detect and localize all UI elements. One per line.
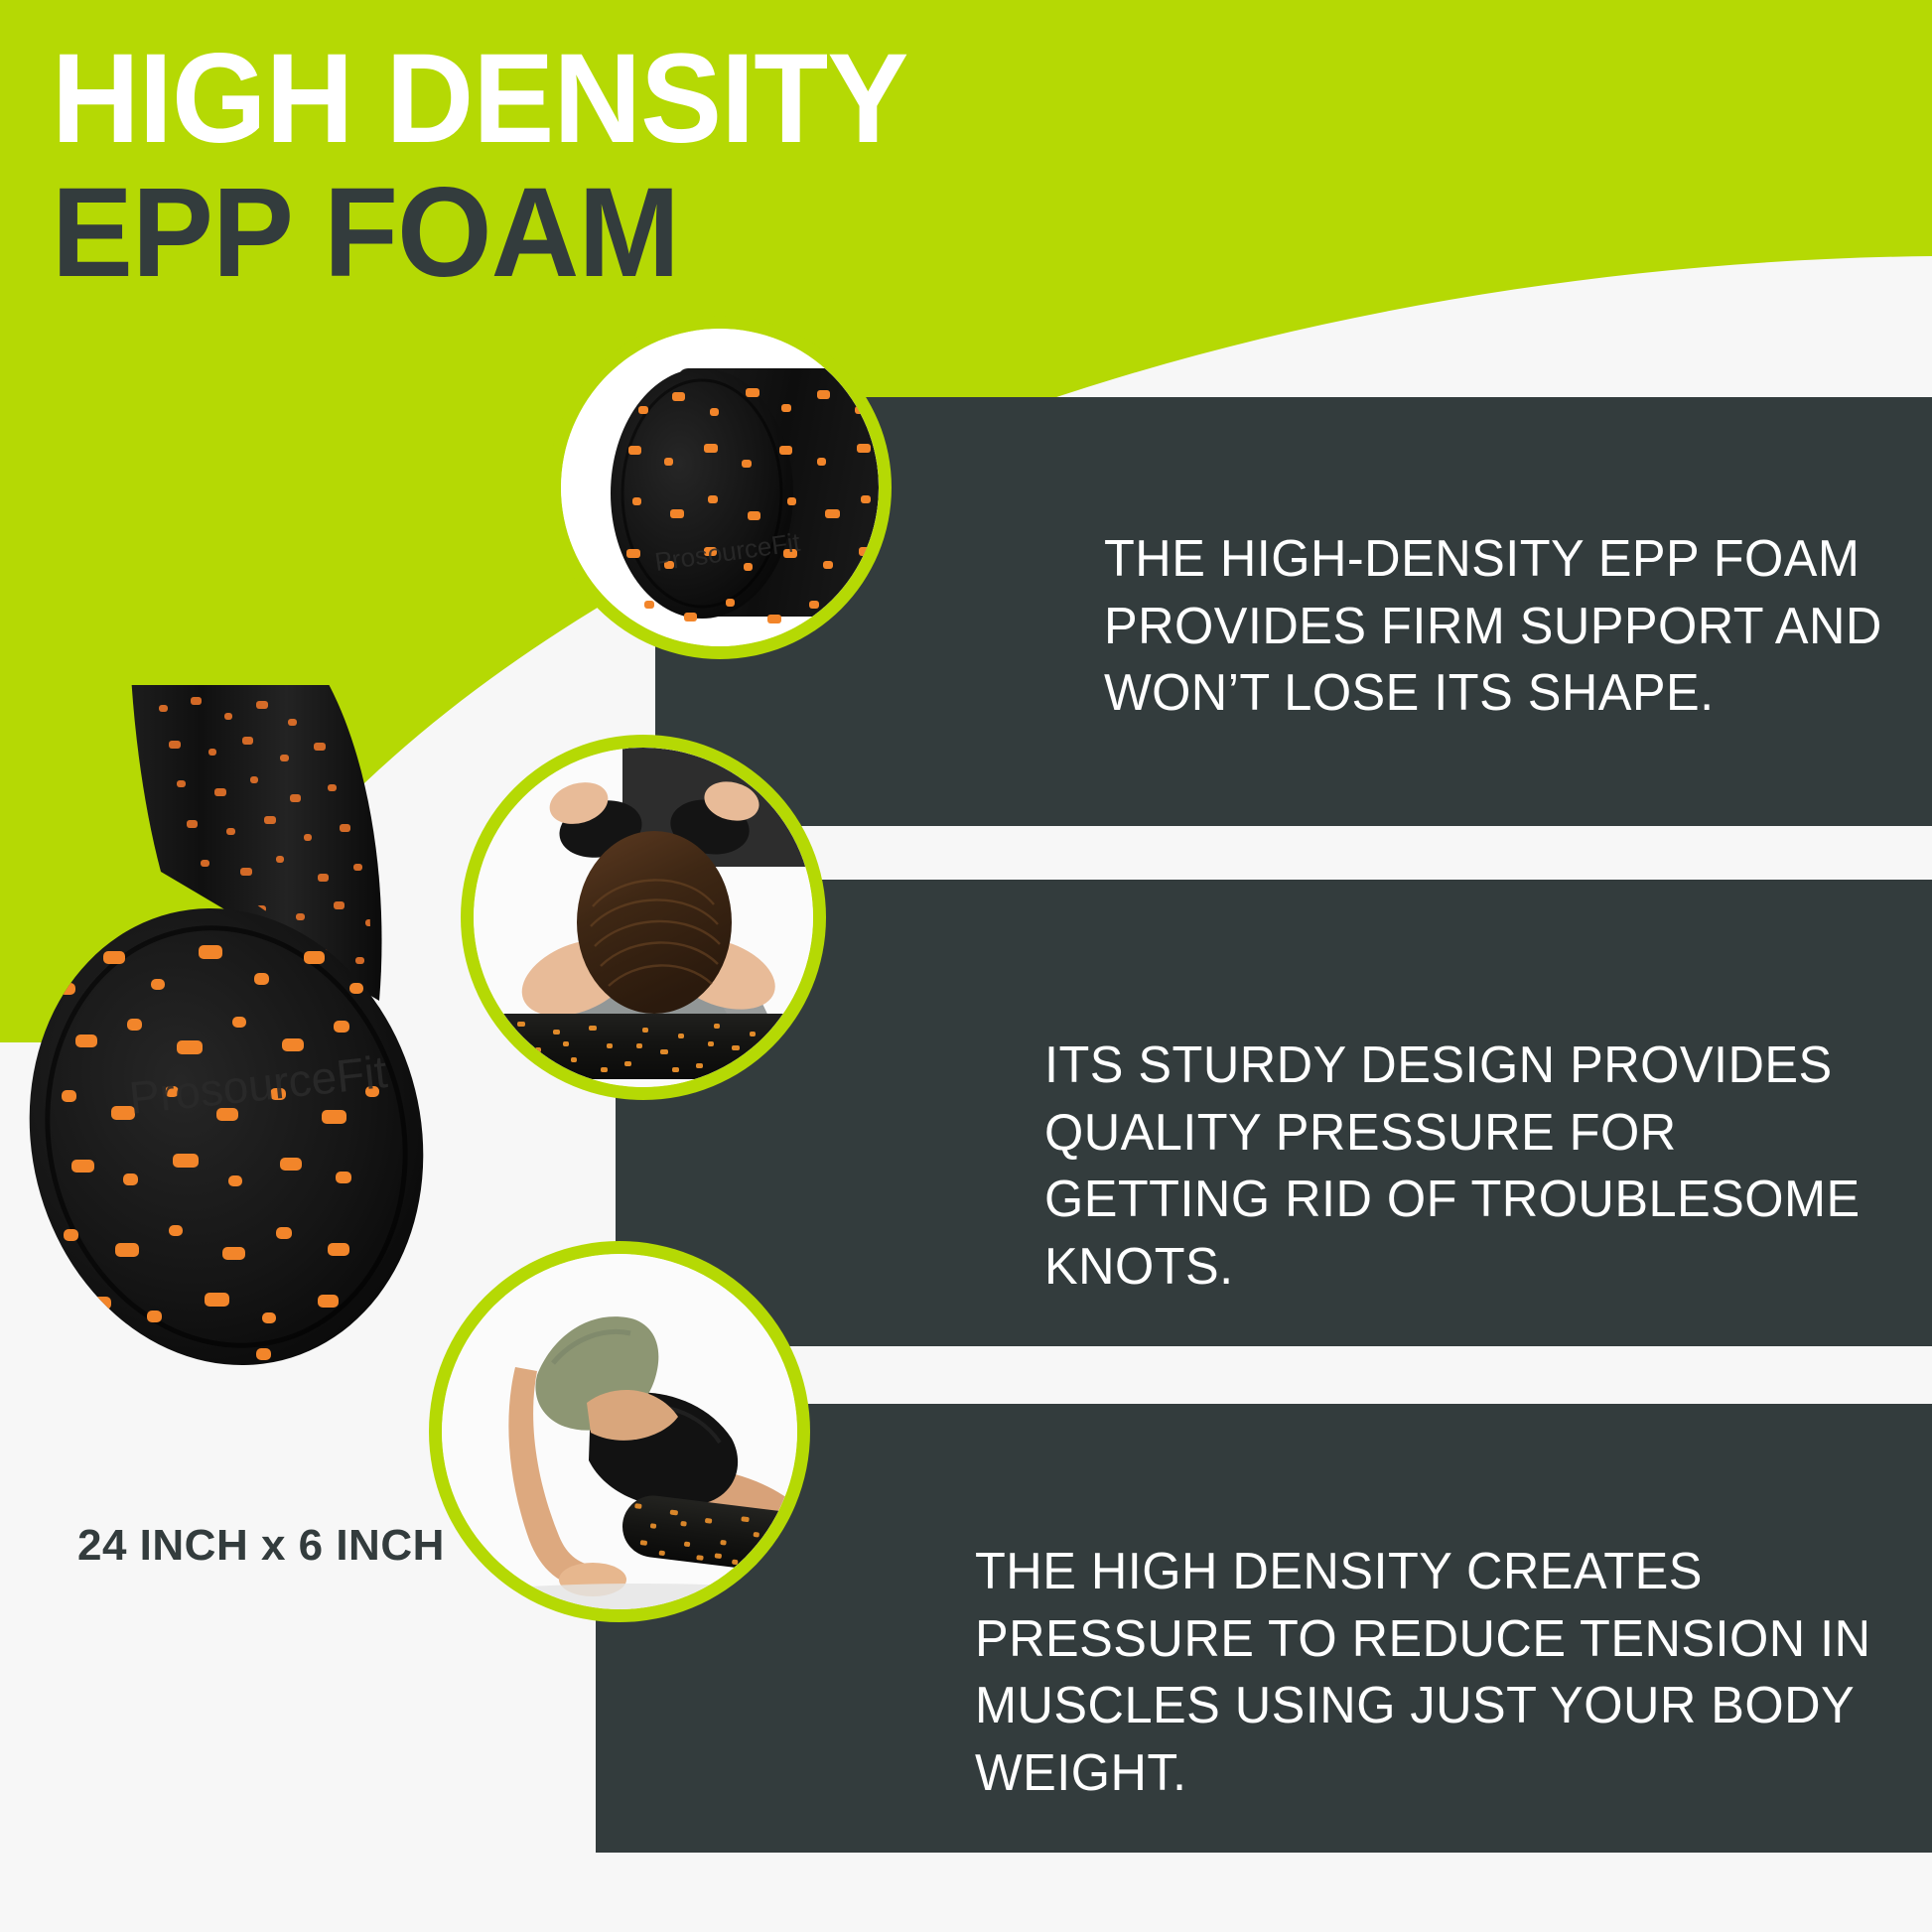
- dimension-caption: 24 INCH x 6 INCH: [77, 1521, 445, 1571]
- feature-text-1: THE HIGH-DENSITY EPP FOAM PROVIDES FIRM …: [1104, 526, 1893, 728]
- infographic-canvas: HIGH DENSITY EPP FOAM THE HIGH-DENSITY E…: [0, 0, 1932, 1932]
- feature-image-2-man-rolling-upper-back: [461, 735, 826, 1100]
- feature-image-1-foam-roller-end-closeup: ProsourceFit: [548, 316, 892, 659]
- foam-roller-hero-photo: ProsourceFit: [20, 685, 437, 1430]
- feature-text-3: THE HIGH DENSITY CREATES PRESSURE TO RED…: [975, 1539, 1899, 1807]
- header-title-block: HIGH DENSITY EPP FOAM: [52, 36, 943, 299]
- feature-image-3-woman-rolling-hips: [429, 1241, 810, 1622]
- title-line-1: HIGH DENSITY: [52, 36, 907, 163]
- feature-text-2: ITS STURDY DESIGN PROVIDES QUALITY PRESS…: [1044, 1033, 1901, 1301]
- title-line-2: EPP FOAM: [52, 169, 907, 299]
